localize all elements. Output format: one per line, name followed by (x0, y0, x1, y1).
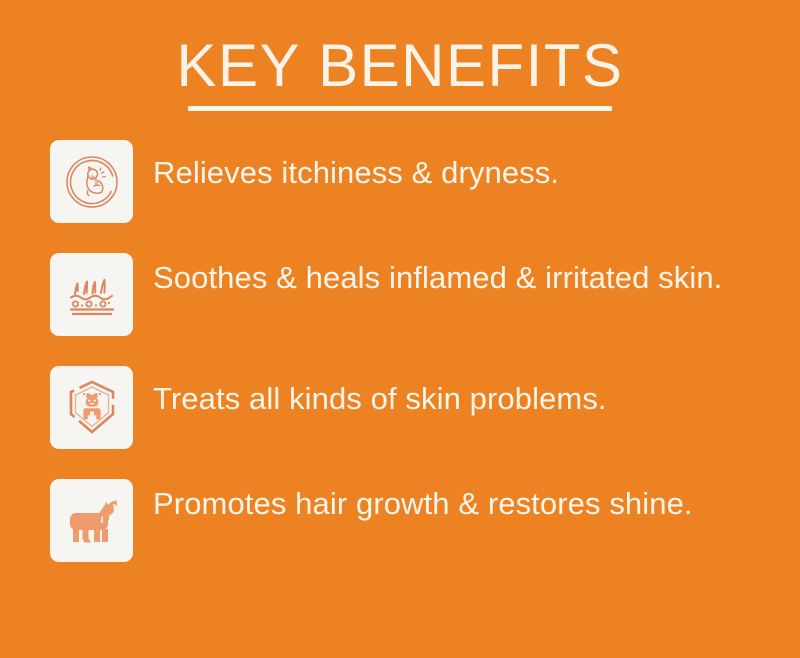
key-benefits-banner: KEY BENEFITS (0, 0, 800, 658)
benefit-text: Promotes hair growth & restores shine. (153, 479, 790, 524)
page-title: KEY BENEFITS (0, 34, 800, 98)
benefit-text: Soothes & heals inflamed & irritated ski… (153, 253, 790, 298)
irritated-skin-hairs-icon (63, 266, 121, 324)
dog-shield-protection-icon (63, 378, 121, 438)
list-item: Treats all kinds of skin problems. (50, 366, 790, 449)
benefit-icon-card (50, 140, 133, 223)
benefits-list: Relieves itchiness & dryness. (50, 140, 790, 562)
header: KEY BENEFITS (0, 34, 800, 111)
list-item: Promotes hair growth & restores shine. (50, 479, 790, 562)
title-divider (188, 106, 612, 111)
list-item: Soothes & heals inflamed & irritated ski… (50, 253, 790, 336)
benefit-text: Relieves itchiness & dryness. (153, 140, 790, 193)
dog-scratching-circle-icon (63, 153, 121, 211)
list-item: Relieves itchiness & dryness. (50, 140, 790, 223)
dog-silhouette-icon (62, 495, 122, 547)
benefit-icon-card (50, 479, 133, 562)
benefit-text: Treats all kinds of skin problems. (153, 366, 790, 419)
benefit-icon-card (50, 366, 133, 449)
benefit-icon-card (50, 253, 133, 336)
